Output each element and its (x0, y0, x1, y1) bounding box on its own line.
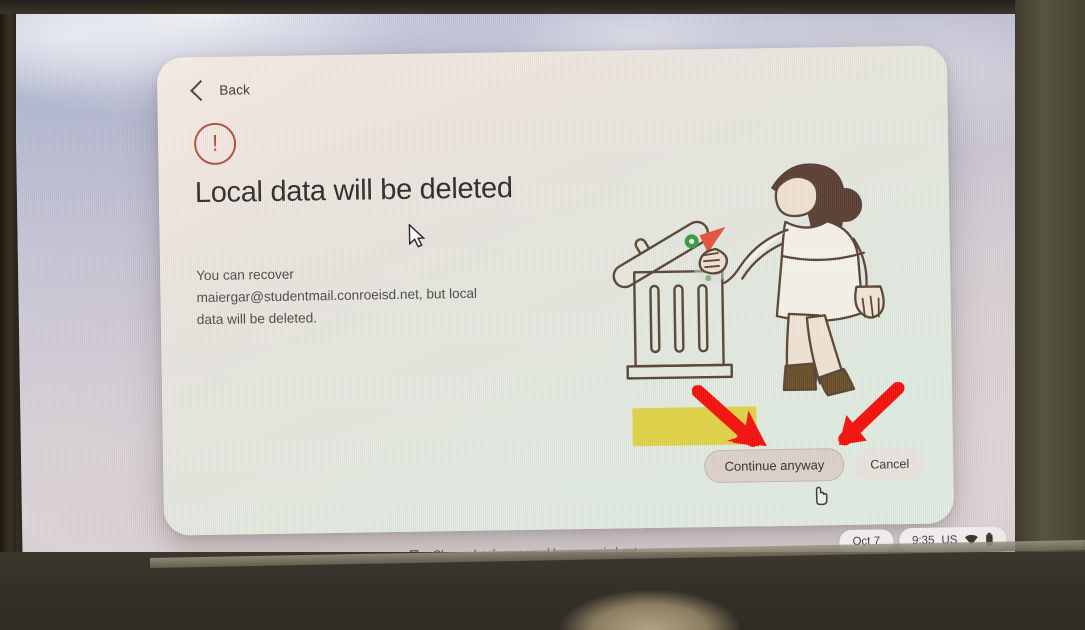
cancel-button[interactable]: Cancel (854, 447, 925, 480)
dialog-button-row: Continue anyway Cancel (704, 447, 925, 483)
warning-exclamation-circle-icon: ! (194, 123, 237, 166)
back-button-label: Back (219, 82, 250, 97)
chevron-left-icon (190, 80, 211, 101)
continue-anyway-button[interactable]: Continue anyway (704, 448, 844, 483)
bezel-right-edge (1015, 0, 1085, 630)
warning-glyph: ! (212, 131, 219, 154)
person-throwing-data-in-trash-illustration (602, 150, 906, 405)
bezel-top-edge (0, 0, 1085, 14)
bezel-left-edge (0, 0, 16, 630)
screen-area: Back ! Local data will be deleted You ca… (14, 0, 1025, 575)
desk-object (560, 590, 740, 630)
dialog-body-text: You can recover maiergar@studentmail.con… (196, 260, 497, 331)
back-button[interactable]: Back (193, 82, 250, 98)
local-data-deleted-dialog: Back ! Local data will be deleted You ca… (157, 45, 954, 535)
page-title: Local data will be deleted (195, 172, 525, 210)
monitor-photo: Back ! Local data will be deleted You ca… (0, 0, 1085, 630)
